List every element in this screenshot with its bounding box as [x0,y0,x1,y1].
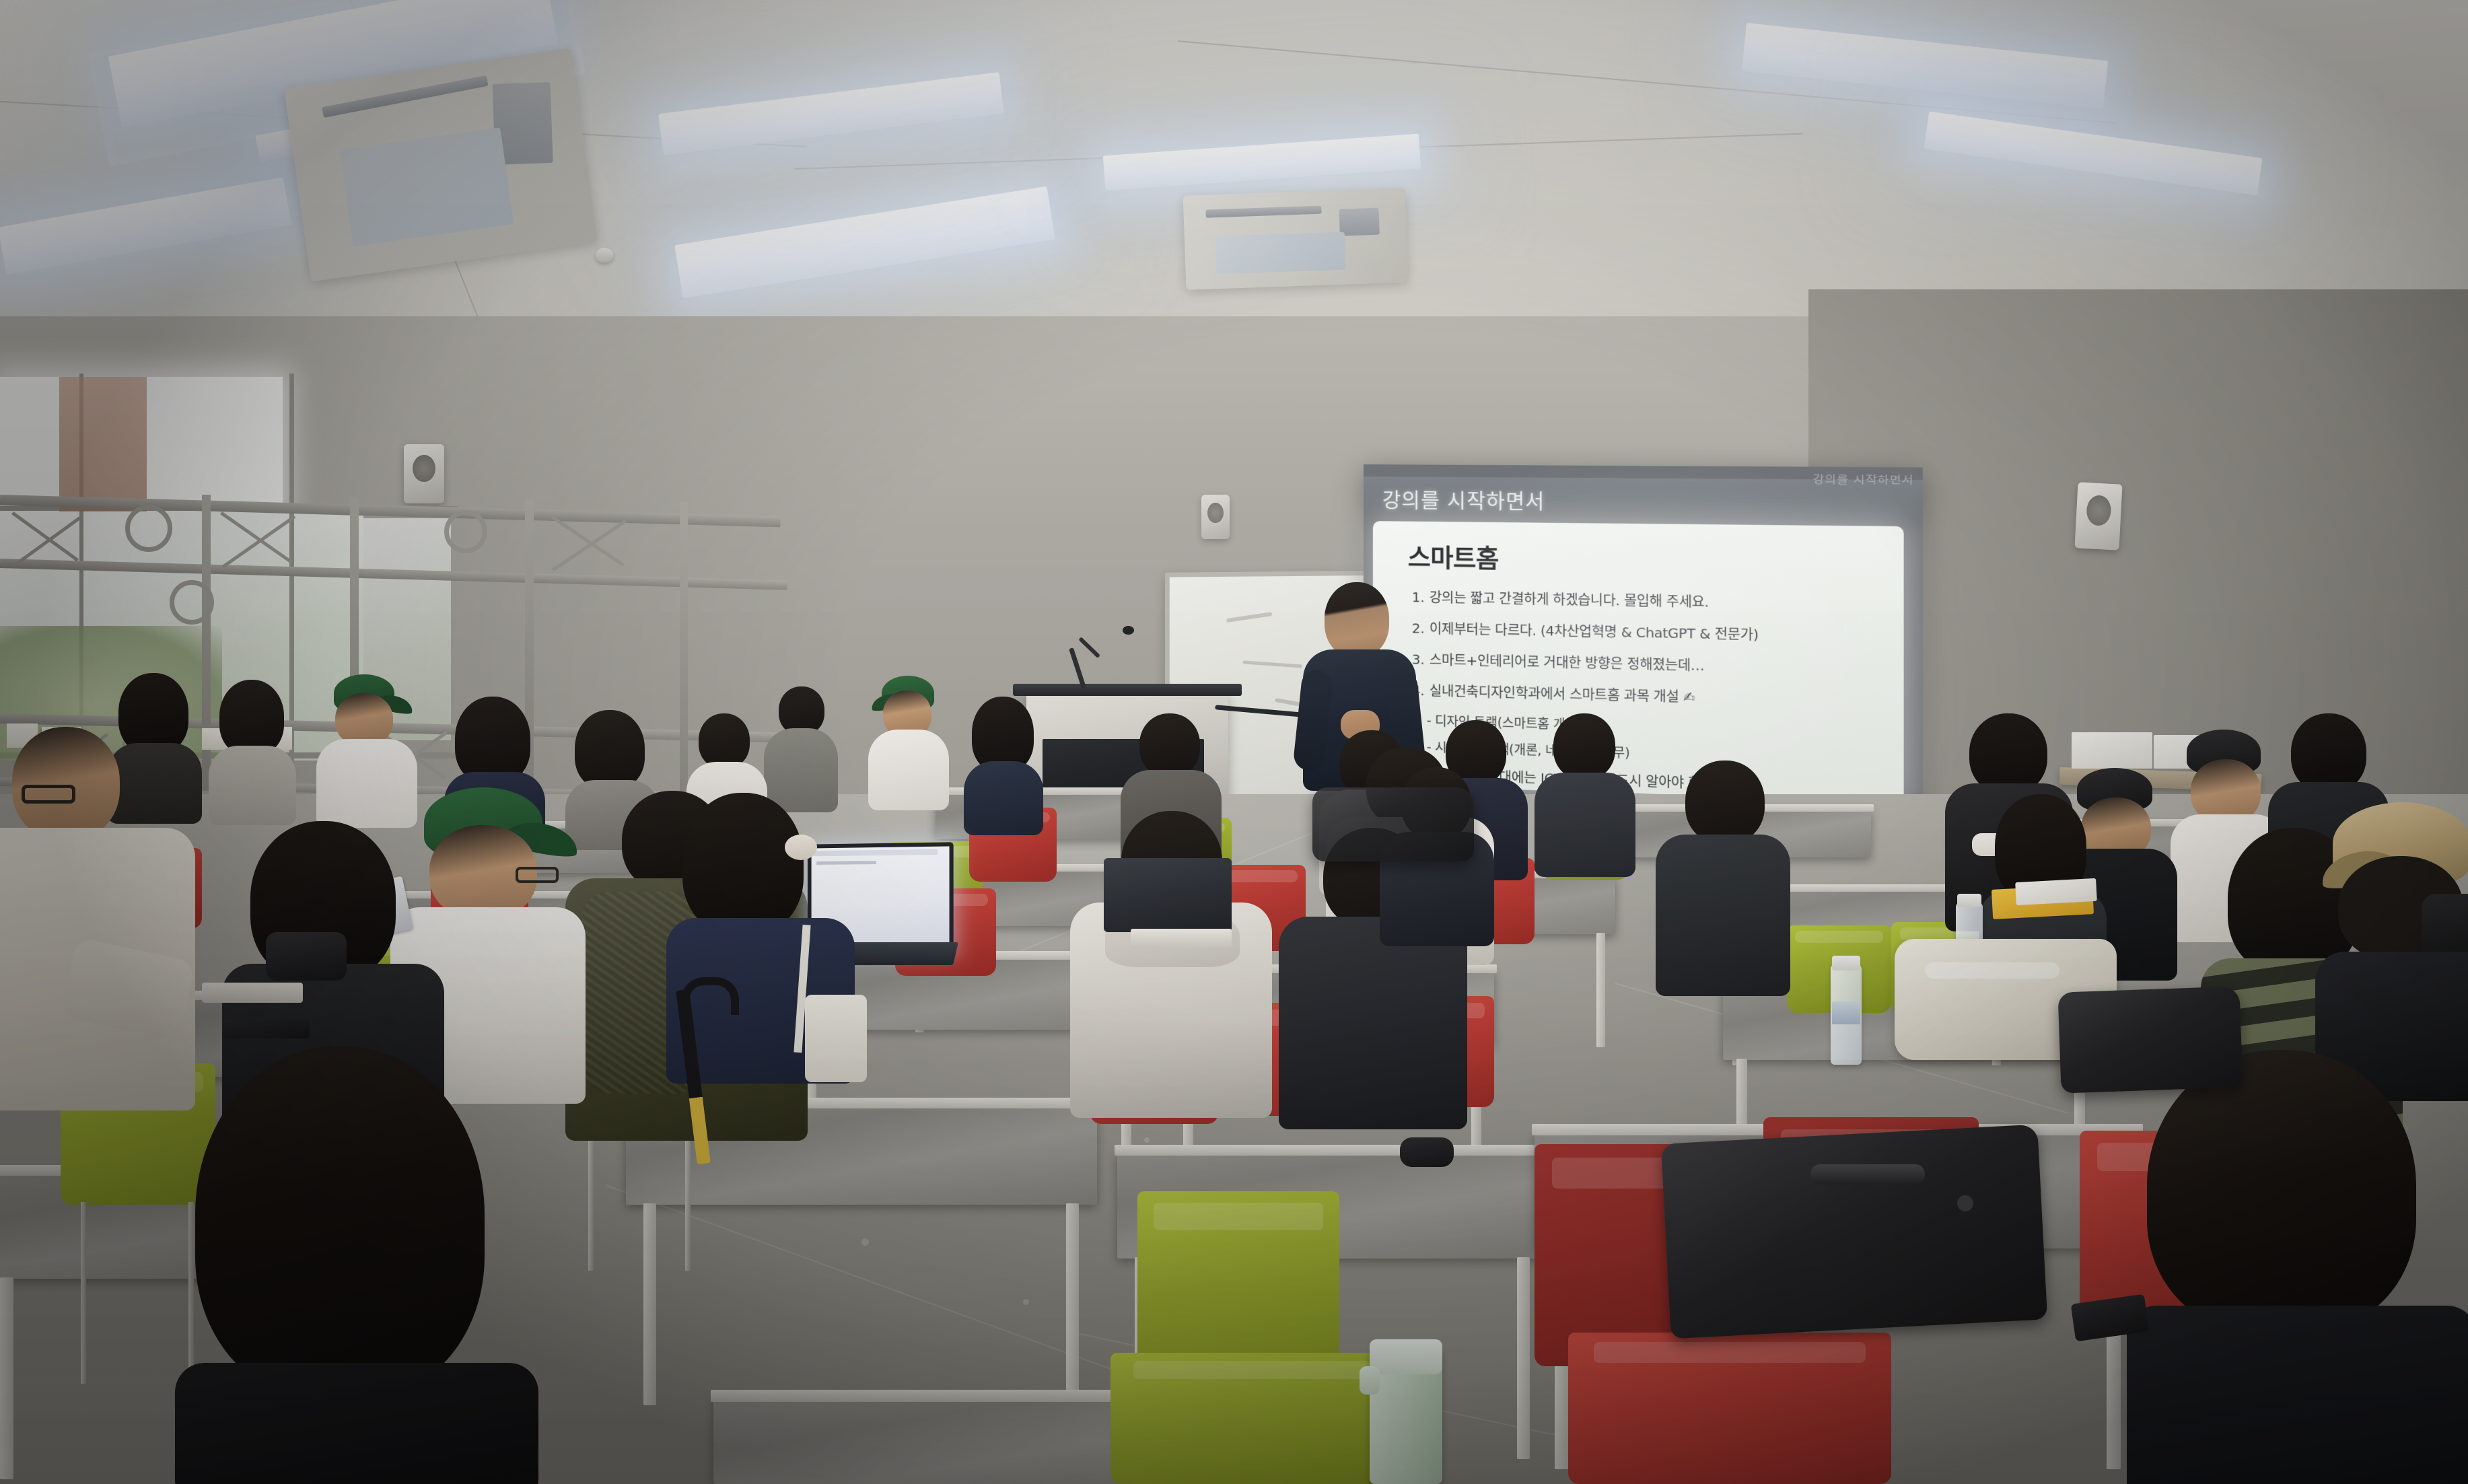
student [764,686,838,804]
student-hair [195,1047,485,1397]
black-backpack[interactable] [1312,787,1474,861]
ac-cassette-unit [284,48,598,281]
bottle-cap [1832,956,1860,970]
lectern-top [1013,684,1242,696]
outside-building [59,377,147,511]
student [1656,761,1790,983]
black-backpack[interactable] [2057,986,2243,1093]
tablet[interactable] [1104,858,1232,932]
glasses-icon [22,785,75,804]
student [1535,713,1635,868]
hair-tie [785,835,817,860]
slide-ghost-title: 강의를 시작하면서 [1813,470,1914,487]
student-hair [2147,1050,2416,1333]
student [868,680,949,804]
student-tan-cap [2315,808,2468,1090]
wall-speaker-center [1201,495,1230,539]
lecturer-head [1325,582,1389,658]
smartphone[interactable] [222,1020,310,1038]
slide-title: 강의를 시작하면서 [1382,483,1545,514]
classroom-photo: 강의를 시작하면서 강의를 시작하면서 스마트홈 1.강의는 짧고 간결하게 하… [0,0,2468,1484]
document-on-desk [2015,878,2097,905]
face-mask-icon [2422,894,2468,958]
slide-item-text: 이제부터는 다르다. (4차산업혁명 & ChatGPT & 전문가) [1430,621,1759,643]
chair[interactable] [1110,1353,1393,1484]
slide-list-item: 2.이제부터는 다르다. (4차산업혁명 & ChatGPT & 전문가) [1412,617,1891,646]
slide-list-item: 3.스마트+인테리어로 거대한 방향은 정해졌는데… [1412,648,1891,678]
tumbler-latch [1360,1366,1380,1394]
smoke-detector-icon [596,248,613,262]
student [0,727,195,1104]
inner-shirt [805,995,867,1082]
student [175,1047,538,1484]
slide-list-item: 1.강의는 짧고 간결하게 하겠습니다. 몰입해 주세요. [1412,586,1891,614]
storage-box [2072,732,2152,769]
black-pouch[interactable] [266,932,347,981]
bag-on-floor [1400,1137,1454,1167]
bottle-label [1832,1001,1860,1024]
backpack-buckle [1957,1195,1973,1211]
black-backpack[interactable] [1661,1125,2047,1339]
notebook[interactable] [202,983,303,1003]
backpack-strap [1810,1164,1925,1185]
ac-cassette-unit [1183,188,1409,289]
slide-item-text: 스마트+인테리어로 거대한 방향은 정해졌는데… [1430,651,1705,674]
bottle-cap [1957,894,1981,907]
microphone-head [1123,626,1134,635]
blanket-fold [1925,962,2059,979]
truss-ring [125,505,172,552]
student [2127,1050,2468,1484]
glasses-icon [516,867,559,883]
slide-item-text: 실내건축디자인학과에서 스마트홈 과목 개설 ✍ [1430,682,1695,705]
slide-heading: 스마트홈 [1408,538,1891,581]
truss-ring [444,510,487,553]
student [209,680,296,811]
wall-speaker-left [404,444,444,503]
slide-item-text: 강의는 짧고 간결하게 하겠습니다. 몰입해 주세요. [1430,590,1709,610]
student [962,697,1043,814]
chair[interactable] [1568,1333,1891,1484]
wall-speaker-right [2074,482,2122,550]
umbrella-handle [681,977,739,1015]
truss-ring [170,580,214,625]
student [1070,811,1272,1107]
tumbler-lid [1370,1339,1442,1374]
slide-list-item: 4.실내건축디자인학과에서 스마트홈 과목 개설 ✍ [1412,680,1891,711]
paper-sheet [1131,929,1232,948]
